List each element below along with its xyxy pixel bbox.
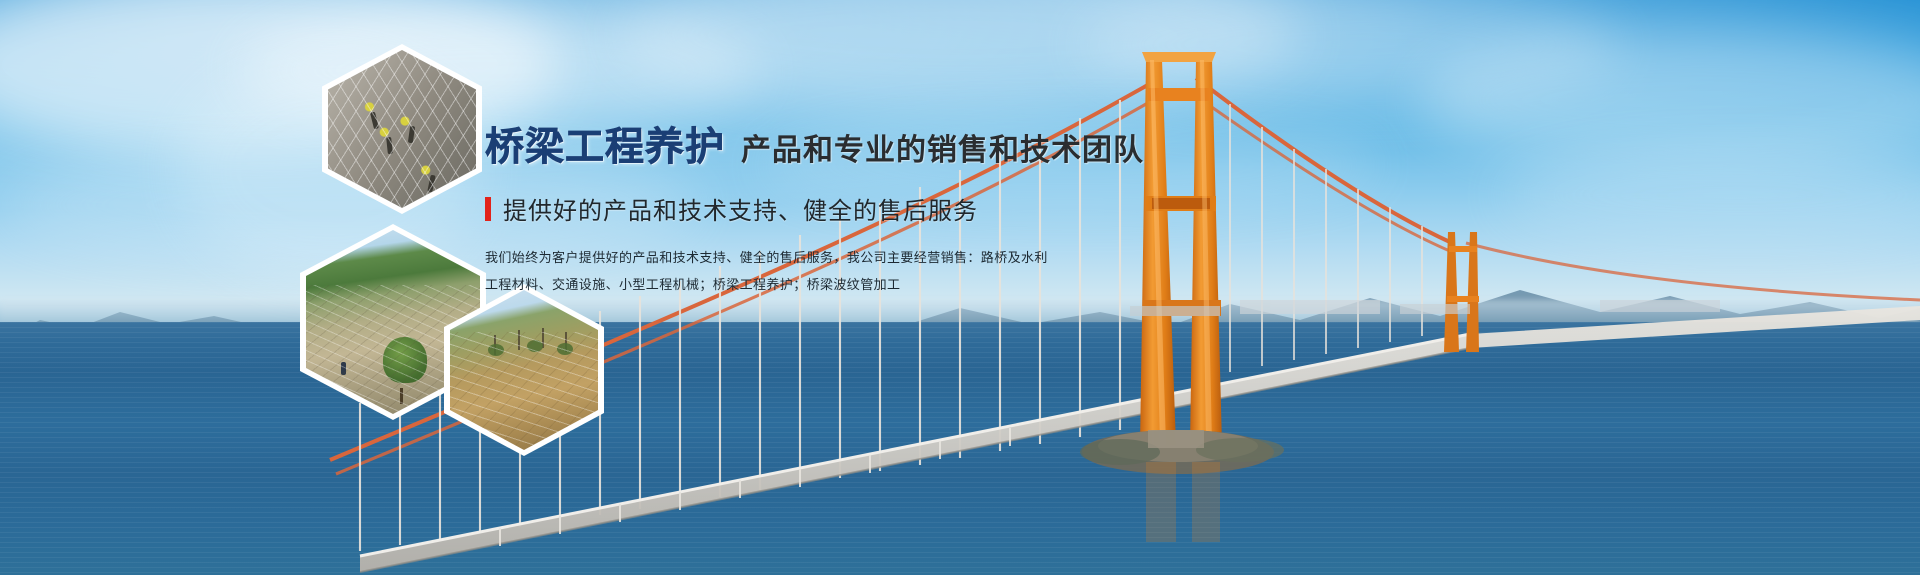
- worker-figure: [427, 174, 435, 192]
- fence-post: [565, 332, 567, 352]
- headline-primary: 桥梁工程养护: [485, 128, 725, 167]
- fence-post: [494, 335, 496, 355]
- banner-body-copy: 我们始终为客户提供好的产品和技术支持、健全的售后服务，我公司主要经营销售：路桥及…: [485, 248, 1205, 295]
- worker-figure: [408, 126, 415, 144]
- accent-bar-icon: [485, 197, 491, 221]
- hex-photo-inner: [450, 290, 598, 450]
- banner-copy-block: 桥梁工程养护 产品和专业的销售和技术团队 提供好的产品和技术支持、健全的售后服务…: [485, 128, 1205, 302]
- subline-text: 提供好的产品和技术支持、健全的售后服务: [503, 191, 978, 226]
- tree-trunk: [400, 388, 403, 404]
- banner-subline: 提供好的产品和技术支持、健全的售后服务: [485, 191, 1205, 226]
- banner-headline: 桥梁工程养护 产品和专业的销售和技术团队: [485, 128, 1205, 167]
- body-line: 我们始终为客户提供好的产品和技术支持、健全的售后服务，我公司主要经营销售：路桥及…: [485, 248, 1205, 268]
- worker-figure: [370, 111, 379, 129]
- fence-post: [518, 330, 520, 350]
- hex-photo-rock-slope-mesh-installation: [322, 44, 482, 214]
- shrub: [527, 340, 543, 352]
- fence-post: [542, 328, 544, 348]
- sea-water: [0, 322, 1920, 575]
- photo-dry-slope-mesh-fence: [450, 290, 598, 450]
- tree-canopy: [383, 337, 427, 383]
- worker-figure: [386, 137, 393, 154]
- body-line: 工程材料、交通设施、小型工程机械；桥梁工程养护；桥梁波纹管加工: [485, 275, 1205, 295]
- photo-rock-slope-mesh-installation: [328, 50, 476, 208]
- worker-figure: [341, 362, 346, 375]
- headline-secondary: 产品和专业的销售和技术团队: [741, 136, 1144, 166]
- shrub: [557, 343, 573, 355]
- hero-banner: 桥梁工程养护 产品和专业的销售和技术团队 提供好的产品和技术支持、健全的售后服务…: [0, 0, 1920, 575]
- hex-photo-inner: [328, 50, 476, 208]
- shrub: [488, 344, 504, 356]
